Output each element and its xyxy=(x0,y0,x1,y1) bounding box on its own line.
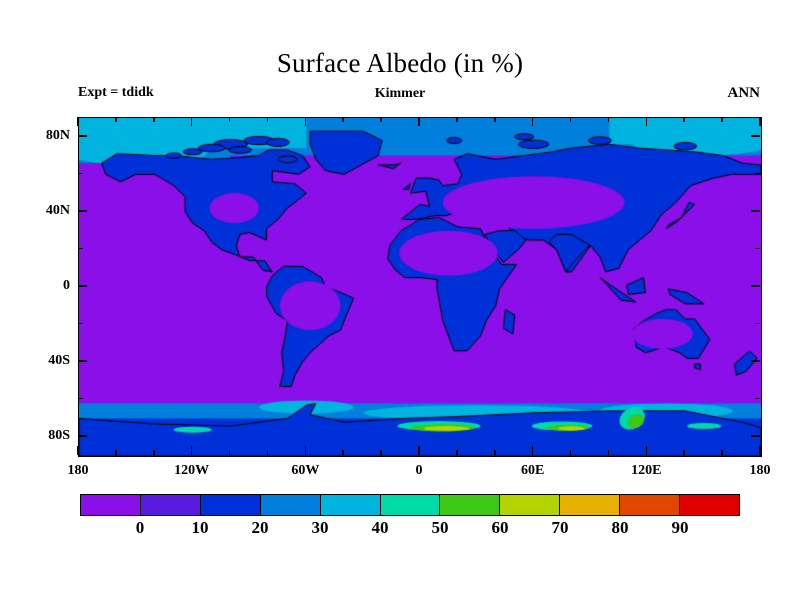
colorbar-tick-label: 90 xyxy=(672,518,689,538)
x-tick xyxy=(532,446,534,455)
colorbar-segment xyxy=(201,495,261,515)
x-tick xyxy=(191,446,193,455)
subtitle-label: Kimmer xyxy=(0,86,800,102)
x-tick xyxy=(759,446,761,455)
colorbar xyxy=(80,494,740,516)
x-tick xyxy=(380,117,382,122)
y-tick xyxy=(751,285,760,287)
plot-page: Surface Albedo (in %) Expt = tdidk Kimme… xyxy=(0,0,800,600)
y-tick xyxy=(751,360,760,362)
y-tick-label: 0 xyxy=(28,278,70,294)
x-tick xyxy=(494,450,496,455)
y-tick xyxy=(751,435,760,437)
x-tick xyxy=(229,117,231,122)
colorbar-tick-label: 30 xyxy=(312,518,329,538)
colorbar-tick-label: 80 xyxy=(612,518,629,538)
y-tick-label: 80N xyxy=(28,128,70,144)
y-tick-label: 80S xyxy=(28,428,70,444)
colorbar-segment xyxy=(560,495,620,515)
x-tick xyxy=(759,117,761,126)
x-tick xyxy=(494,117,496,122)
x-tick xyxy=(418,446,420,455)
colorbar-segments xyxy=(80,494,740,516)
colorbar-segment xyxy=(440,495,500,515)
y-tick xyxy=(78,173,83,175)
y-tick xyxy=(78,210,87,212)
x-tick xyxy=(153,117,155,122)
x-tick-label: 60W xyxy=(291,463,319,479)
x-tick-label: 120W xyxy=(174,463,209,479)
x-tick xyxy=(721,450,723,455)
x-tick xyxy=(456,450,458,455)
x-tick xyxy=(305,446,307,455)
x-tick xyxy=(380,450,382,455)
y-tick xyxy=(755,248,760,250)
x-tick xyxy=(342,450,344,455)
x-tick xyxy=(418,117,420,126)
colorbar-tick-label: 20 xyxy=(252,518,269,538)
x-tick-label: 0 xyxy=(416,463,423,479)
y-tick xyxy=(755,398,760,400)
colorbar-segment xyxy=(500,495,560,515)
x-tick xyxy=(115,450,117,455)
x-tick xyxy=(77,446,79,455)
x-tick xyxy=(570,117,572,122)
y-tick xyxy=(78,398,83,400)
x-tick-label: 180 xyxy=(68,463,89,479)
colorbar-tick-label: 60 xyxy=(492,518,509,538)
colorbar-tick-label: 0 xyxy=(136,518,145,538)
colorbar-tick-label: 50 xyxy=(432,518,449,538)
colorbar-tick-label: 10 xyxy=(192,518,209,538)
x-tick xyxy=(608,117,610,122)
colorbar-tick-label: 40 xyxy=(372,518,389,538)
colorbar-segment xyxy=(620,495,680,515)
x-tick xyxy=(267,117,269,122)
colorbar-segment xyxy=(680,495,739,515)
x-tick xyxy=(721,117,723,122)
x-tick xyxy=(77,117,79,126)
y-tick xyxy=(755,323,760,325)
x-tick xyxy=(342,117,344,122)
colorbar-segment xyxy=(261,495,321,515)
x-tick xyxy=(646,117,648,126)
y-tick xyxy=(78,248,83,250)
x-tick xyxy=(683,117,685,122)
x-tick-label: 60E xyxy=(521,463,544,479)
y-tick xyxy=(751,210,760,212)
x-tick xyxy=(153,450,155,455)
x-tick xyxy=(115,117,117,122)
colorbar-segment xyxy=(81,495,141,515)
season-label: ANN xyxy=(728,85,761,102)
y-tick xyxy=(751,135,760,137)
x-tick xyxy=(191,117,193,126)
x-tick xyxy=(646,446,648,455)
page-title: Surface Albedo (in %) xyxy=(0,48,800,79)
x-tick xyxy=(456,117,458,122)
x-tick xyxy=(532,117,534,126)
y-tick-label: 40N xyxy=(28,203,70,219)
albedo-heatmap xyxy=(79,118,761,456)
x-tick xyxy=(570,450,572,455)
colorbar-tick-label: 70 xyxy=(552,518,569,538)
x-tick xyxy=(683,450,685,455)
y-tick xyxy=(78,435,87,437)
colorbar-segment xyxy=(381,495,441,515)
map-plot-area xyxy=(78,117,762,457)
x-tick xyxy=(229,450,231,455)
x-tick-label: 180 xyxy=(750,463,771,479)
colorbar-segment xyxy=(141,495,201,515)
y-tick xyxy=(78,285,87,287)
x-tick-label: 120E xyxy=(631,463,661,479)
y-tick-label: 40S xyxy=(28,353,70,369)
y-tick xyxy=(78,360,87,362)
y-tick xyxy=(78,323,83,325)
x-tick xyxy=(305,117,307,126)
y-tick xyxy=(755,173,760,175)
colorbar-segment xyxy=(321,495,381,515)
x-tick xyxy=(267,450,269,455)
y-tick xyxy=(78,135,87,137)
x-tick xyxy=(608,450,610,455)
